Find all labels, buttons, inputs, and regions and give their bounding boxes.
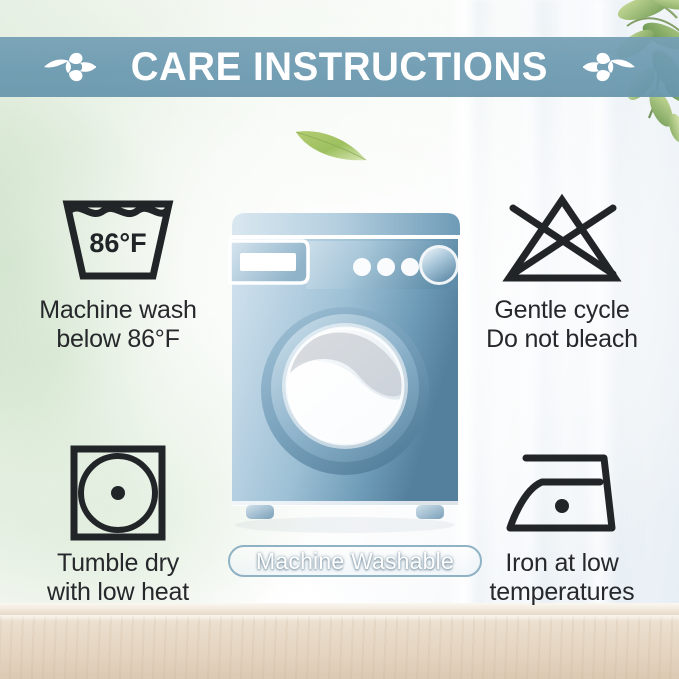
symbol-cell-machine-wash: 86°F Machine wash below 86°F	[8, 190, 228, 354]
symbol-cell-no-bleach: Gentle cycle Do not bleach	[452, 190, 672, 354]
symbol-cell-tumble-dry: Tumble dry with low heat	[8, 443, 228, 607]
wooden-table-surface	[0, 615, 679, 679]
caption-tumble-dry: Tumble dry with low heat	[8, 549, 228, 607]
tumble-dry-low-icon	[8, 443, 228, 543]
machine-button	[377, 258, 395, 276]
caption-iron-low: Iron at low temperatures	[452, 549, 672, 607]
washing-machine-illustration	[228, 205, 462, 535]
machine-foot	[246, 505, 274, 519]
caption-machine-wash: Machine wash below 86°F	[8, 296, 228, 354]
wash-temperature-value: 86°F	[89, 228, 146, 258]
fleur-de-lis-ornament-left-icon	[38, 47, 100, 87]
no-bleach-triangle-icon	[452, 190, 672, 290]
machine-button	[353, 258, 371, 276]
machine-foot	[416, 505, 444, 519]
wash-tub-icon: 86°F	[8, 190, 228, 290]
caption-no-bleach: Gentle cycle Do not bleach	[452, 296, 672, 354]
header-banner: CARE INSTRUCTIONS	[0, 37, 679, 97]
symbol-cell-iron-low: Iron at low temperatures	[452, 443, 672, 607]
page-title: CARE INSTRUCTIONS	[131, 47, 548, 87]
machine-washable-label: Machine Washable	[256, 548, 454, 575]
iron-low-temp-icon	[452, 443, 672, 543]
machine-button	[401, 258, 419, 276]
care-instructions-infographic: CARE INSTRUCTIONS 86°F Machine wash belo…	[0, 0, 679, 679]
machine-washable-badge: Machine Washable	[228, 545, 482, 577]
fleur-de-lis-ornament-right-icon	[579, 47, 641, 87]
